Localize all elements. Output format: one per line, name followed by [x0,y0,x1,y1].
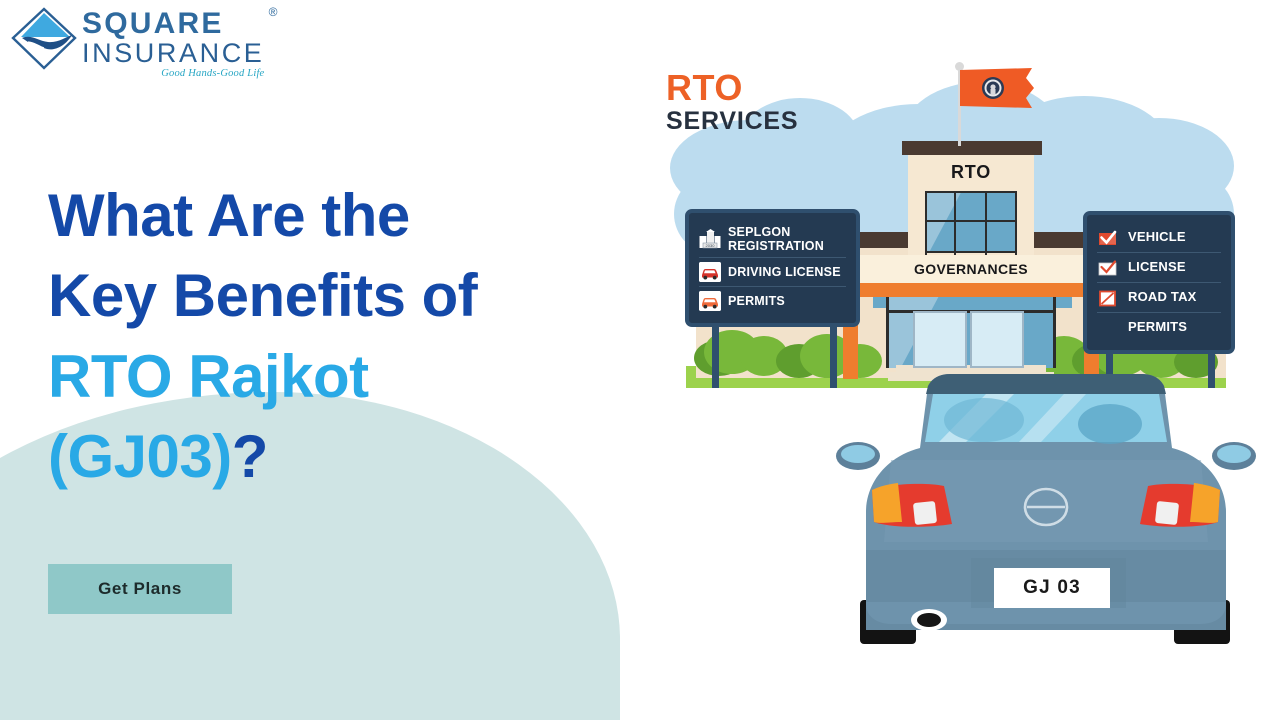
square-diamond-eagle-logo-icon [8,4,80,74]
checked-box-red-icon [1097,228,1119,248]
signboard-right-item[interactable]: LICENSE [1097,253,1221,283]
brand-name-line2: INSURANCE [82,40,264,67]
tower-window [925,191,1017,253]
services-title-primary: RTO [666,70,798,106]
services-title: RTO SERVICES [666,70,798,137]
building-sign-rto: RTO [908,162,1034,183]
indian-government-flag-icon [960,68,1038,110]
brand-logo[interactable]: SQUARE ® INSURANCE Good Hands-Good Life [8,4,208,78]
brand-tagline: Good Hands-Good Life [82,68,264,79]
signboard-right-item-label: ROAD TAX [1128,290,1197,305]
headline-line-4: (GJ03)? [48,417,638,497]
signboard-left-item-label: SEPLGON REGISTRATION [728,225,846,253]
page-title: What Are the Key Benefits of RTO Rajkot … [48,176,638,498]
signboard-right-item[interactable]: ROAD TAX [1097,283,1221,313]
headline-line-4-text: (GJ03) [48,423,232,490]
building-banner-governances: GOVERNANCES [843,255,1099,283]
entrance-door-left [913,311,967,368]
signboard-left-item-label: DRIVING LICENSE [728,265,841,279]
crossed-box-red-icon [1097,288,1119,308]
signboard-right-item-label: LICENSE [1128,260,1186,275]
brand-name-line1: SQUARE [82,10,264,39]
signboard-right-item[interactable]: PERMITS [1097,313,1221,342]
signboard-right-item-label: VEHICLE [1128,230,1186,245]
signboard-right[interactable]: VEHICLE LICENSE ROAD TAX PERMITS [1083,211,1235,354]
hero-banner: SQUARE ® INSURANCE Good Hands-Good Life … [0,0,1280,720]
license-plate: GJ 03 [994,568,1110,608]
services-title-secondary: SERVICES [666,106,798,137]
headline-line-2: Key Benefits of [48,256,638,336]
signboard-left[interactable]: 2030 SEPLGON REGISTRATION DRIVING LICENS… [685,209,860,327]
orange-car-icon [699,291,721,311]
svg-text:2030: 2030 [706,243,716,248]
headline-line-3: RTO Rajkot [48,337,638,417]
signboard-right-item[interactable]: VEHICLE [1097,223,1221,253]
signboard-left-item-label: PERMITS [728,294,785,308]
building-canopy [839,283,1103,297]
signboard-right-item-label: PERMITS [1128,320,1187,335]
headline-line-1: What Are the [48,176,638,256]
headline-question-mark: ? [232,423,268,490]
get-plans-button[interactable]: Get Plans [48,564,232,614]
entrance-door-right [970,311,1024,368]
registered-mark: ® [269,5,278,19]
blank-icon-slot [1097,318,1119,338]
registration-building-icon: 2030 [699,229,721,249]
red-car-icon [699,262,721,282]
checked-box-white-icon [1097,258,1119,278]
signboard-left-item[interactable]: 2030 SEPLGON REGISTRATION [699,221,846,258]
signboard-left-item[interactable]: PERMITS [699,287,846,315]
car-rear-view: GJ 03 [836,372,1256,668]
building-tower-roof [902,141,1042,155]
signboard-left-item[interactable]: DRIVING LICENSE [699,258,846,287]
rto-illustration: RTO SERVICES RTO GOVERNAN [640,0,1280,720]
car-illustration [836,372,1256,668]
